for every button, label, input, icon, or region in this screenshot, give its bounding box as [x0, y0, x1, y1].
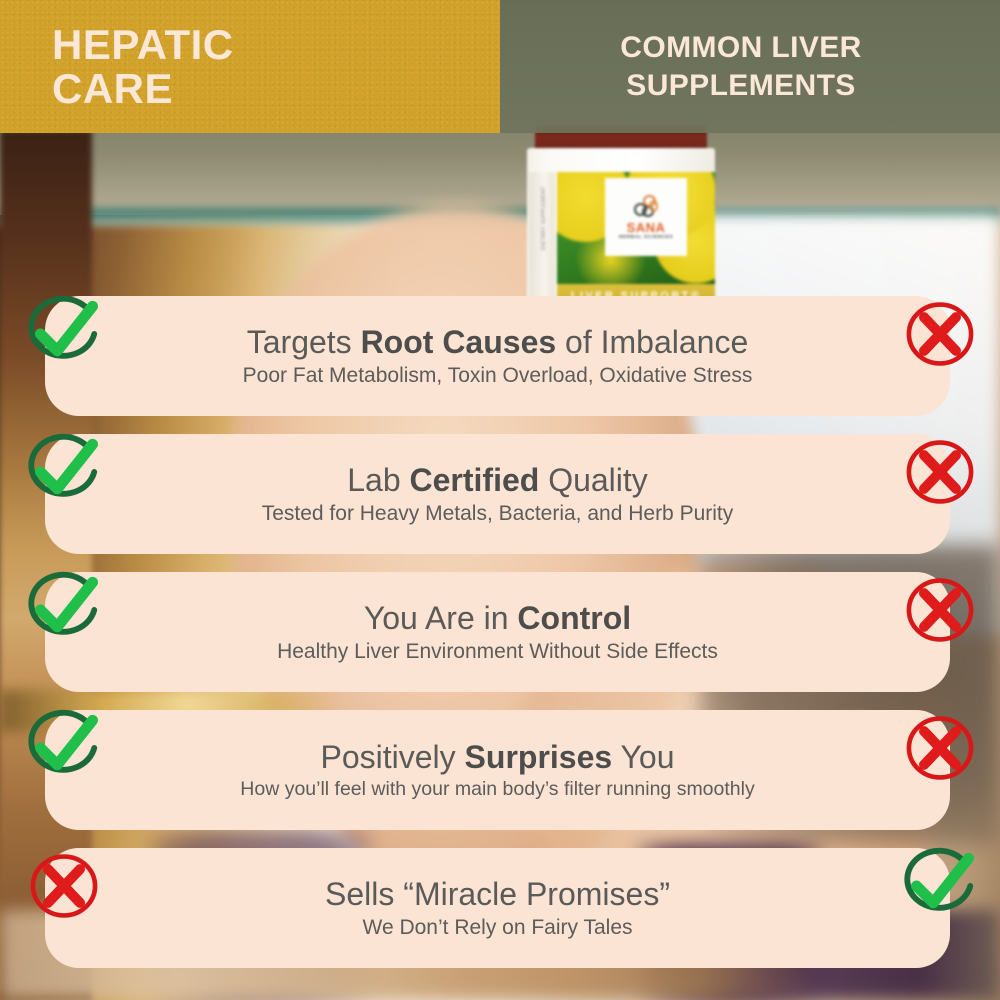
check-icon [22, 706, 106, 790]
header-right-panel: COMMON LIVER SUPPLEMENTS [500, 0, 1000, 133]
infographic-page: SANA HERBAL SCIENCES LIVER SUPPORT® ATIC… [0, 0, 1000, 1000]
check-icon [22, 292, 106, 376]
comparison-row: You Are in ControlHealthy Liver Environm… [0, 572, 1000, 692]
feature-pill: Positively Surprises YouHow you’ll feel … [45, 710, 950, 830]
comparison-row: Positively Surprises YouHow you’ll feel … [0, 710, 1000, 830]
comparison-rows: Targets Root Causes of ImbalancePoor Fat… [0, 296, 1000, 986]
feature-title: Lab Certified Quality [347, 462, 648, 499]
page-title: HEPATIC CARE [0, 23, 234, 110]
check-icon [898, 844, 982, 928]
feature-title: Positively Surprises You [321, 739, 675, 776]
sana-logo-icon [633, 194, 659, 220]
feature-subtitle: We Don’t Rely on Fairy Tales [363, 915, 633, 940]
header-left-panel: HEPATIC CARE [0, 0, 500, 133]
bottle-brand-sub: HERBAL SCIENCES [619, 235, 673, 240]
feature-title-emphasis: Certified [410, 462, 540, 498]
comparison-row: Lab Certified QualityTested for Heavy Me… [0, 434, 1000, 554]
feature-pill: You Are in ControlHealthy Liver Environm… [45, 572, 950, 692]
comparison-row: Targets Root Causes of ImbalancePoor Fat… [0, 296, 1000, 416]
feature-subtitle: Tested for Heavy Metals, Bacteria, and H… [262, 501, 734, 526]
cross-icon [898, 292, 982, 376]
feature-title-emphasis: Root Causes [361, 324, 557, 360]
feature-pill: Targets Root Causes of ImbalancePoor Fat… [45, 296, 950, 416]
check-icon [22, 568, 106, 652]
bottle-side-text: DIETARY SUPPLEMENT [541, 180, 547, 250]
bottle-brand-name: SANA [627, 221, 666, 234]
bottle-brand-label: SANA HERBAL SCIENCES [605, 178, 687, 256]
cross-icon [22, 844, 106, 928]
check-icon [22, 430, 106, 514]
header-band: HEPATIC CARE COMMON LIVER SUPPLEMENTS [0, 0, 1000, 133]
feature-subtitle: Healthy Liver Environment Without Side E… [277, 639, 718, 664]
feature-title: Targets Root Causes of Imbalance [247, 324, 749, 361]
cross-icon [898, 568, 982, 652]
feature-title-emphasis: Control [517, 600, 631, 636]
comparison-row: Sells “Miracle Promises”We Don’t Rely on… [0, 848, 1000, 968]
feature-pill: Sells “Miracle Promises”We Don’t Rely on… [45, 848, 950, 968]
comparison-column-title: COMMON LIVER SUPPLEMENTS [620, 29, 879, 104]
feature-subtitle: Poor Fat Metabolism, Toxin Overload, Oxi… [243, 363, 753, 388]
feature-subtitle: How you’ll feel with your main body’s fi… [240, 778, 754, 801]
feature-title: Sells “Miracle Promises” [325, 876, 670, 913]
cross-icon [898, 430, 982, 514]
feature-title: You Are in Control [364, 600, 631, 637]
feature-title-emphasis: Surprises [465, 739, 613, 775]
cross-icon [898, 706, 982, 790]
feature-pill: Lab Certified QualityTested for Heavy Me… [45, 434, 950, 554]
